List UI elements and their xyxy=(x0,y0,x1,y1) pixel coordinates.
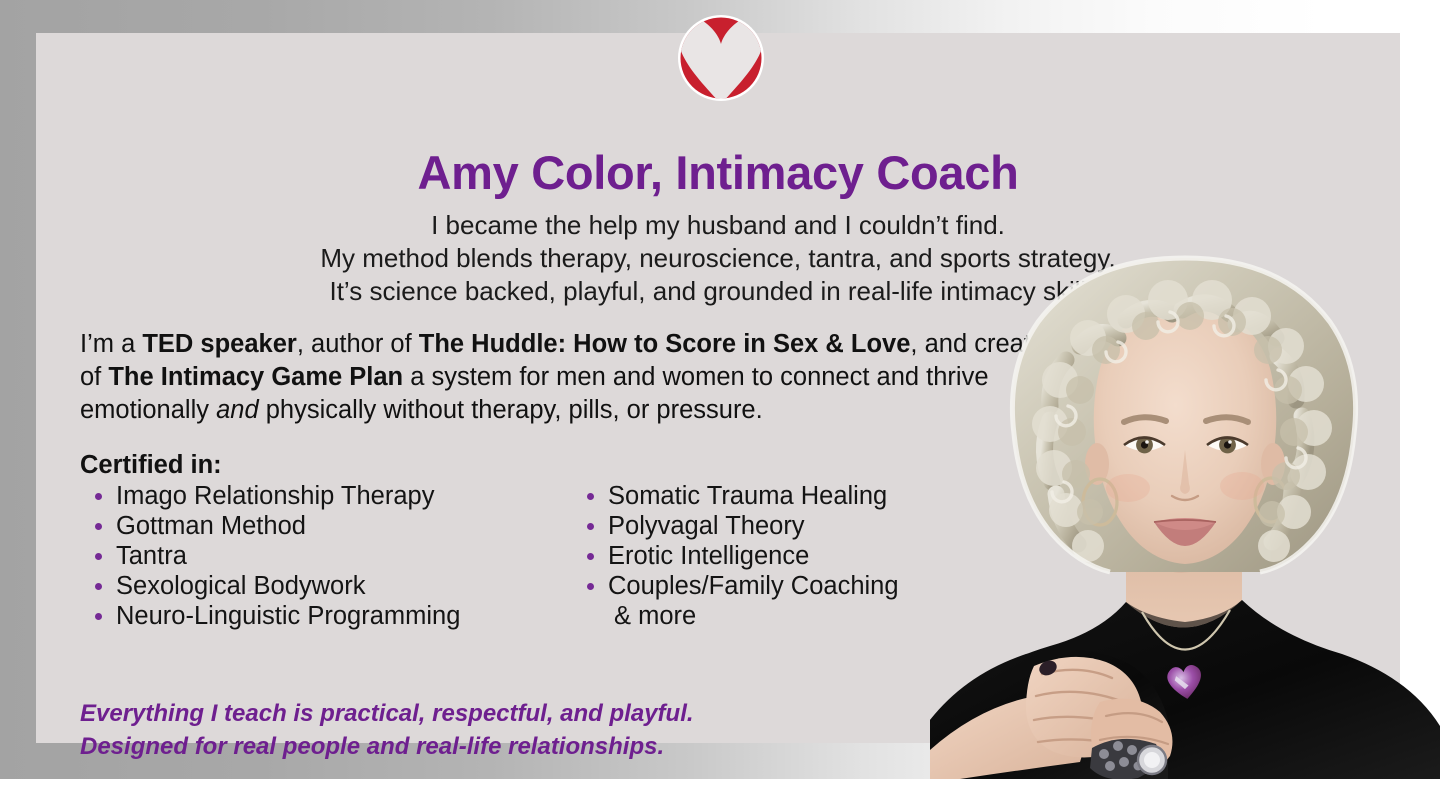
tagline-line-1: I became the help my husband and I could… xyxy=(36,209,1400,242)
bullet-dot-icon xyxy=(587,523,594,530)
list-item: Tantra xyxy=(92,541,562,571)
bullet-dot-icon xyxy=(587,553,594,560)
portrait-of-amy-color xyxy=(930,250,1440,779)
certifications-heading: Certified in: xyxy=(80,451,222,480)
page-title: Amy Color, Intimacy Coach xyxy=(36,145,1400,200)
heart-in-circle-logo-icon xyxy=(677,14,765,102)
list-item-label: Polyvagal Theory xyxy=(608,512,805,540)
list-item-label: Gottman Method xyxy=(116,512,306,540)
bio-segment-bold: The Intimacy Game Plan xyxy=(108,363,403,391)
list-item-label: & more xyxy=(614,602,696,630)
bio-segment: I’m a xyxy=(80,330,142,358)
bottom-white-band xyxy=(0,779,1440,810)
list-item: Sexological Bodywork xyxy=(92,571,562,601)
bio-paragraph: I’m a TED speaker, author of The Huddle:… xyxy=(80,328,1062,427)
list-item-label: Sexological Bodywork xyxy=(116,572,365,600)
bio-segment: physically without therapy, pills, or pr… xyxy=(259,396,763,424)
bio-segment: , author of xyxy=(297,330,419,358)
bullet-dot-icon xyxy=(95,493,102,500)
bullet-dot-icon xyxy=(587,583,594,590)
closing-line-1: Everything I teach is practical, respect… xyxy=(80,697,694,730)
list-item: Imago Relationship Therapy xyxy=(92,481,562,511)
list-item-label: Neuro-Linguistic Programming xyxy=(116,602,460,630)
bullet-dot-icon xyxy=(587,493,594,500)
bio-segment-bold: The Huddle: How to Score in Sex & Love xyxy=(419,330,911,358)
list-item-label: Somatic Trauma Healing xyxy=(608,482,887,510)
bullet-dot-icon xyxy=(95,553,102,560)
list-item-label: Imago Relationship Therapy xyxy=(116,482,434,510)
bullet-dot-icon xyxy=(95,613,102,620)
closing-statement: Everything I teach is practical, respect… xyxy=(80,697,694,763)
bullet-dot-icon xyxy=(95,523,102,530)
list-item-label: Couples/Family Coaching xyxy=(608,572,899,600)
list-item-label: Erotic Intelligence xyxy=(608,542,809,570)
slide-stage: Amy Color, Intimacy Coach I became the h… xyxy=(0,0,1440,810)
list-item: Neuro-Linguistic Programming xyxy=(92,601,562,631)
bio-segment-italic: and xyxy=(216,396,259,424)
bullet-dot-icon xyxy=(95,583,102,590)
bio-segment-bold: TED speaker xyxy=(142,330,297,358)
certifications-left-column: Imago Relationship Therapy Gottman Metho… xyxy=(92,481,562,631)
list-item-label: Tantra xyxy=(116,542,187,570)
closing-line-2: Designed for real people and real-life r… xyxy=(80,730,694,763)
list-item: Gottman Method xyxy=(92,511,562,541)
